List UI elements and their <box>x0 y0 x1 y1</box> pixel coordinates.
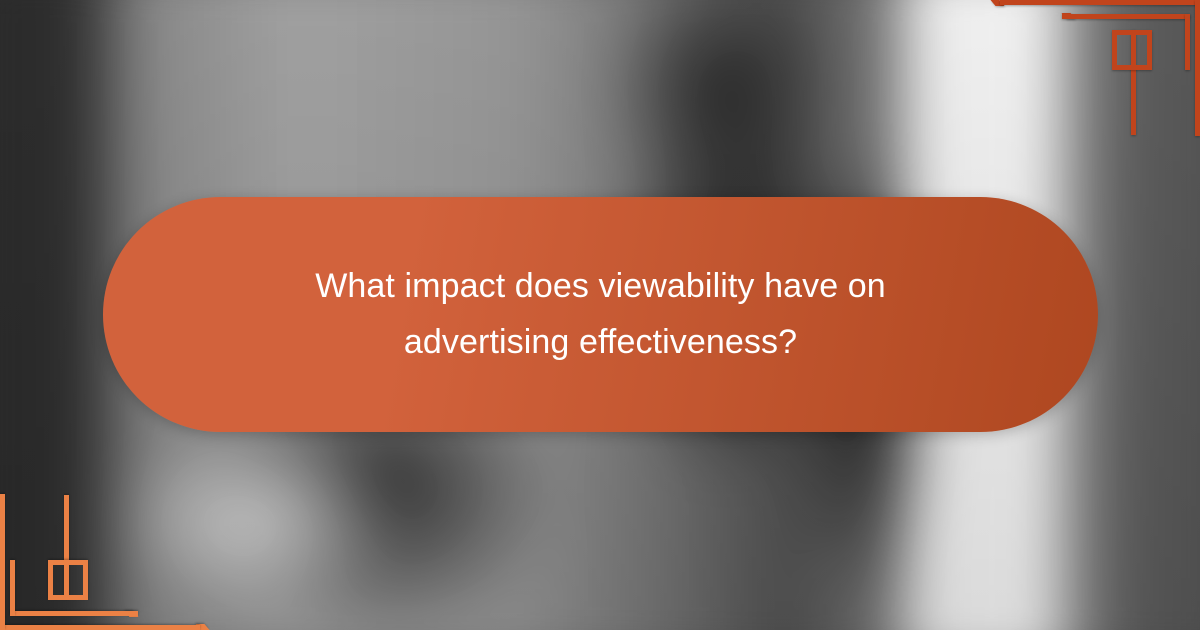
corner-bl-small-square <box>48 560 88 600</box>
question-text: What impact does viewability have on adv… <box>221 259 981 369</box>
corner-frame-bottom-left-icon <box>0 494 205 630</box>
corner-tr-outer-top-line <box>1000 0 1200 5</box>
corner-tr-small-square <box>1112 30 1152 70</box>
corner-bl-inner-left-line <box>10 560 15 616</box>
corner-frame-top-right-icon <box>995 0 1200 136</box>
question-line-1: What impact does viewability have on <box>315 267 886 305</box>
corner-tr-outer-right-line <box>1195 0 1200 136</box>
question-line-2: advertising effectiveness? <box>404 323 797 361</box>
question-card-canvas: What impact does viewability have on adv… <box>0 0 1200 630</box>
corner-tr-inner-top-line <box>1062 14 1190 19</box>
corner-bl-outer-left-line <box>0 494 5 630</box>
corner-bl-outer-bottom-line <box>0 625 200 630</box>
question-pill: What impact does viewability have on adv… <box>103 197 1098 432</box>
corner-bl-inner-bottom-line <box>10 611 138 616</box>
corner-tr-inner-right-line <box>1185 14 1190 70</box>
